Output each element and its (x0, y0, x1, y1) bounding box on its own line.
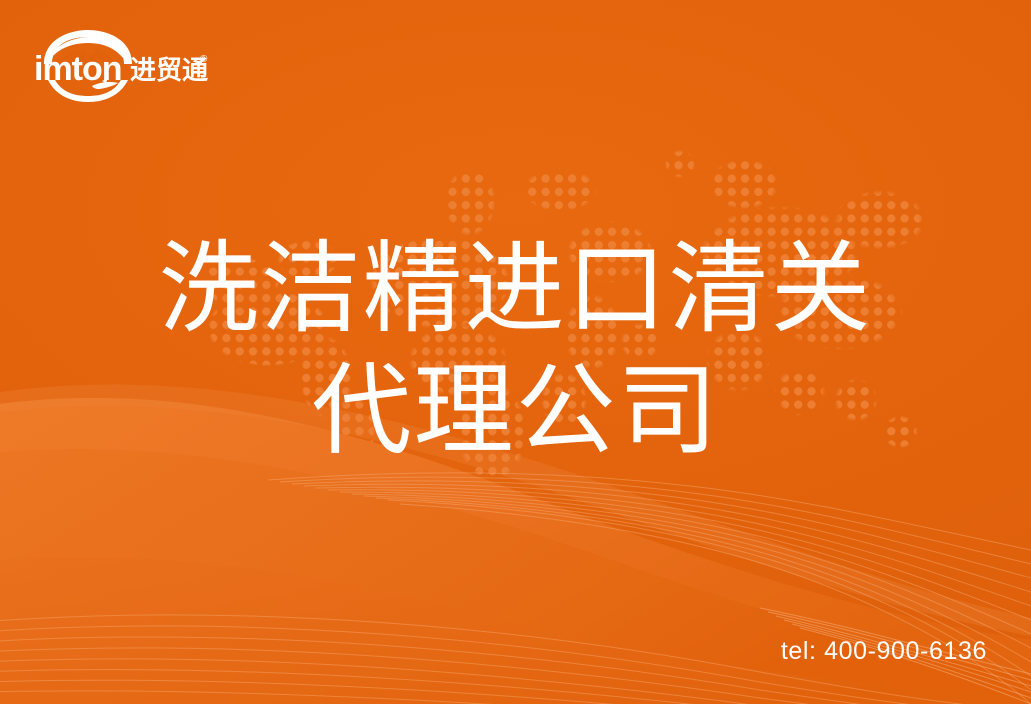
page-title: 洗洁精进口清关 代理公司 (0, 228, 1031, 472)
logo-wordmark: imton 进贸通 ® (34, 50, 214, 90)
logo-chinese-text: 进贸通 (130, 55, 208, 85)
promo-banner: imton 进贸通 ® 洗洁精进口清关 代理公司 tel: 400-900-61… (0, 0, 1031, 704)
telephone-number[interactable]: tel: 400-900-6136 (781, 636, 987, 666)
brand-logo[interactable]: imton 进贸通 ® (34, 28, 214, 102)
logo-wordmark-text: imton (34, 50, 122, 88)
headline-line-2: 代理公司 (0, 350, 1031, 472)
logo-trademark-symbol: ® (200, 54, 208, 65)
headline-line-1: 洗洁精进口清关 (0, 228, 1031, 350)
